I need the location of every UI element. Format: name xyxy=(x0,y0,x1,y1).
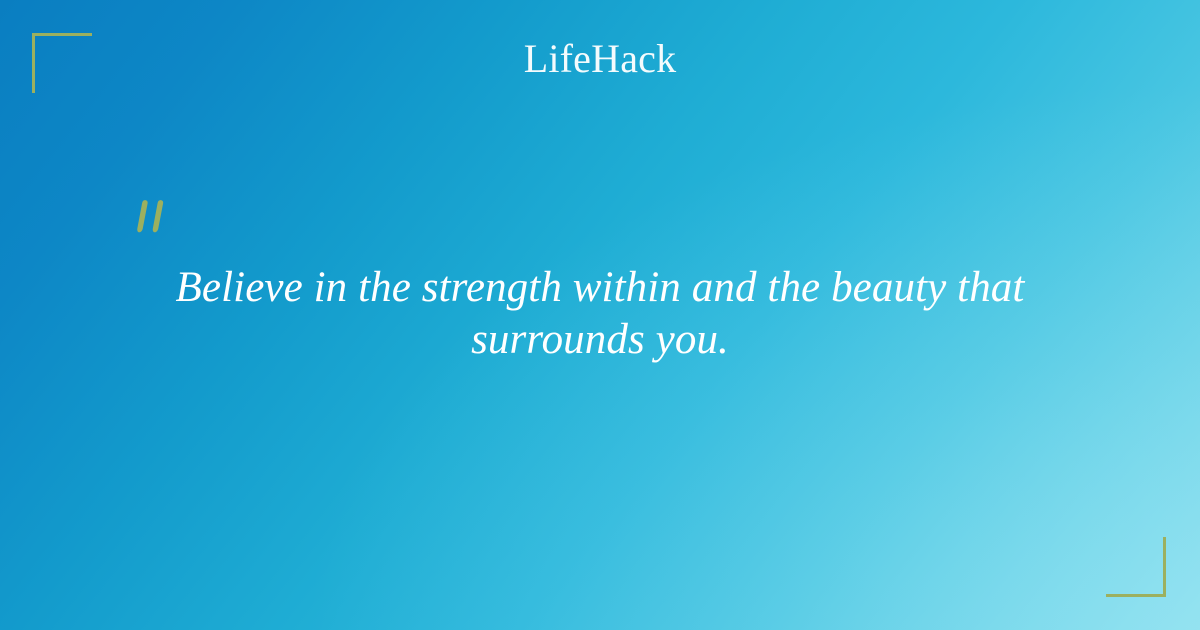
corner-bracket-bottom-right-horizontal-bar xyxy=(1106,594,1166,597)
corner-bracket-top-left-horizontal-bar xyxy=(32,33,92,36)
corner-bracket-bottom-right-icon xyxy=(1106,537,1166,597)
quote-text: Believe in the strength within and the b… xyxy=(140,262,1060,366)
quote-block: Believe in the strength within and the b… xyxy=(140,262,1060,366)
quote-card: LifeHack Believe in the strength within … xyxy=(0,0,1200,630)
corner-bracket-bottom-right-vertical-bar xyxy=(1163,537,1166,597)
double-quote-icon xyxy=(131,197,177,245)
brand-header: LifeHack xyxy=(0,38,1200,80)
brand-wordmark: LifeHack xyxy=(524,38,677,80)
